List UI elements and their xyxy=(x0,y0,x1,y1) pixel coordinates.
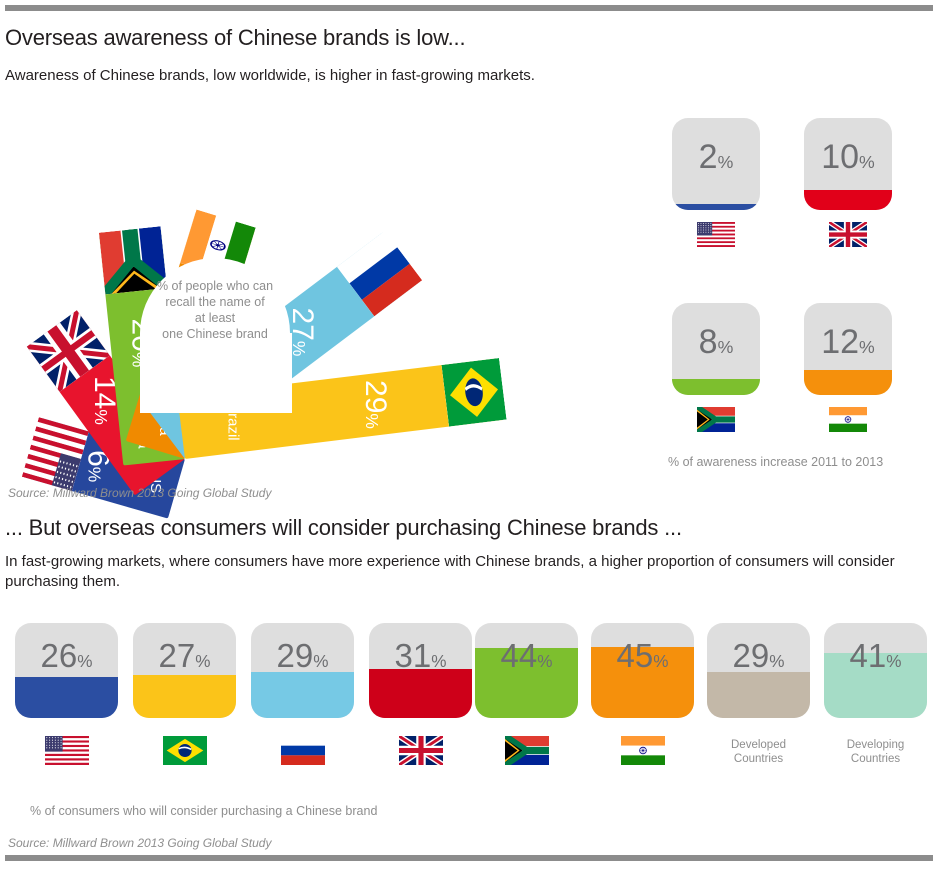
awareness-increase-card-south-africa[interactable]: 8% xyxy=(672,303,760,395)
section2-subtitle: In fast-growing markets, where consumers… xyxy=(5,552,935,592)
card-text-label: DevelopingCountries xyxy=(824,738,927,766)
card-value-number: 44 xyxy=(501,637,538,674)
fan-segment-percent-symbol: % xyxy=(362,413,382,428)
consider-card-brazil[interactable]: 27% xyxy=(133,623,236,718)
card-value-number: 27 xyxy=(159,637,196,674)
fan-hub-line-4: one Chinese brand xyxy=(140,326,290,342)
card-flag-uk-icon xyxy=(399,736,443,765)
card-value-number: 8 xyxy=(699,323,718,361)
consider-card-developed-countries[interactable]: 29% xyxy=(707,623,810,718)
card-value: 26% xyxy=(15,637,118,675)
top-divider-bar xyxy=(5,5,933,11)
fan-segment-value: 29% xyxy=(360,380,390,429)
card-percent-symbol: % xyxy=(77,651,92,671)
consider-card-india[interactable]: 45% xyxy=(591,623,694,718)
fan-hub-line-2: recall the name of xyxy=(140,294,290,310)
card-flag-russia-icon xyxy=(281,736,325,765)
fan-segment-percent-symbol: % xyxy=(85,467,105,482)
card-value-number: 41 xyxy=(850,637,887,674)
consider-caption: % of consumers who will consider purchas… xyxy=(30,804,377,818)
source-note-bottom: Source: Millward Brown 2013 Going Global… xyxy=(8,836,271,850)
card-fill xyxy=(15,677,118,718)
awareness-increase-card-india[interactable]: 12% xyxy=(804,303,892,395)
card-flag-south-africa-icon xyxy=(697,407,735,432)
card-value: 8% xyxy=(672,323,760,362)
card-fill xyxy=(804,190,892,210)
card-flag-us-icon xyxy=(697,222,735,247)
bottom-divider-bar xyxy=(5,855,933,861)
consider-card-russia[interactable]: 29% xyxy=(251,623,354,718)
card-percent-symbol: % xyxy=(859,152,875,172)
card-percent-symbol: % xyxy=(859,337,875,357)
card-value: 29% xyxy=(707,637,810,675)
card-flag-south-africa-icon xyxy=(505,736,549,765)
card-value-number: 12 xyxy=(821,323,859,361)
card-percent-symbol: % xyxy=(537,651,552,671)
card-value: 31% xyxy=(369,637,472,675)
fan-hub-line-1: % of people who can xyxy=(140,278,290,294)
card-value: 10% xyxy=(804,138,892,177)
consider-card-south-africa[interactable]: 44% xyxy=(475,623,578,718)
card-flag-india-icon xyxy=(829,407,867,432)
card-value: 45% xyxy=(591,637,694,675)
source-note-top: Source: Millward Brown 2013 Going Global… xyxy=(8,486,271,500)
card-percent-symbol: % xyxy=(718,337,734,357)
page-subtitle: Awareness of Chinese brands, low worldwi… xyxy=(5,66,535,86)
card-fill xyxy=(369,669,472,718)
card-fill xyxy=(251,672,354,718)
card-value: 27% xyxy=(133,637,236,675)
card-percent-symbol: % xyxy=(653,651,668,671)
card-value-number: 45 xyxy=(617,637,654,674)
fan-hub-caption: % of people who canrecall the name ofat … xyxy=(140,278,290,342)
fan-segment-flag-us-icon xyxy=(22,417,89,491)
card-value-number: 10 xyxy=(821,138,859,176)
card-flag-uk-icon xyxy=(829,222,867,247)
page-title: Overseas awareness of Chinese brands is … xyxy=(5,25,465,51)
consider-card-uk[interactable]: 31% xyxy=(369,623,472,718)
card-text-label: DevelopedCountries xyxy=(707,738,810,766)
card-fill xyxy=(707,672,810,718)
fan-segment-flag-russia-icon xyxy=(337,231,422,317)
card-fill xyxy=(804,370,892,395)
card-fill xyxy=(133,675,236,718)
fan-chart: 6%US14%UK 20%SouthAfrica 22%India xyxy=(0,118,630,478)
card-flag-india-icon xyxy=(621,736,665,765)
awareness-increase-card-us[interactable]: 2% xyxy=(672,118,760,210)
card-value-number: 29 xyxy=(733,637,770,674)
card-value-number: 29 xyxy=(277,637,314,674)
consider-card-us[interactable]: 26% xyxy=(15,623,118,718)
card-fill xyxy=(672,204,760,210)
card-value: 41% xyxy=(824,637,927,675)
card-percent-symbol: % xyxy=(769,651,784,671)
fan-segment-flag-brazil-icon xyxy=(441,358,506,427)
card-value: 2% xyxy=(672,138,760,177)
card-flag-us-icon xyxy=(45,736,89,765)
section2-title: ... But overseas consumers will consider… xyxy=(5,515,682,541)
fan-segment-number: 29 xyxy=(359,380,392,413)
fan-hub-line-3: at least xyxy=(140,310,290,326)
card-percent-symbol: % xyxy=(718,152,734,172)
consider-card-developing-countries[interactable]: 41% xyxy=(824,623,927,718)
awareness-increase-caption: % of awareness increase 2011 to 2013 xyxy=(668,455,938,469)
card-value: 12% xyxy=(804,323,892,362)
card-percent-symbol: % xyxy=(886,651,901,671)
section2-subtitle-line1: In fast-growing markets, where consumers… xyxy=(5,553,731,570)
fan-segment-percent-symbol: % xyxy=(289,341,309,356)
card-value-number: 31 xyxy=(395,637,432,674)
card-percent-symbol: % xyxy=(431,651,446,671)
card-value-number: 26 xyxy=(41,637,78,674)
card-value-number: 2 xyxy=(699,138,718,176)
card-value: 29% xyxy=(251,637,354,675)
card-flag-brazil-icon xyxy=(163,736,207,765)
card-percent-symbol: % xyxy=(313,651,328,671)
card-value: 44% xyxy=(475,637,578,675)
card-percent-symbol: % xyxy=(195,651,210,671)
fan-segment-percent-symbol: % xyxy=(91,409,111,424)
card-fill xyxy=(672,379,760,395)
awareness-increase-card-uk[interactable]: 10% xyxy=(804,118,892,210)
